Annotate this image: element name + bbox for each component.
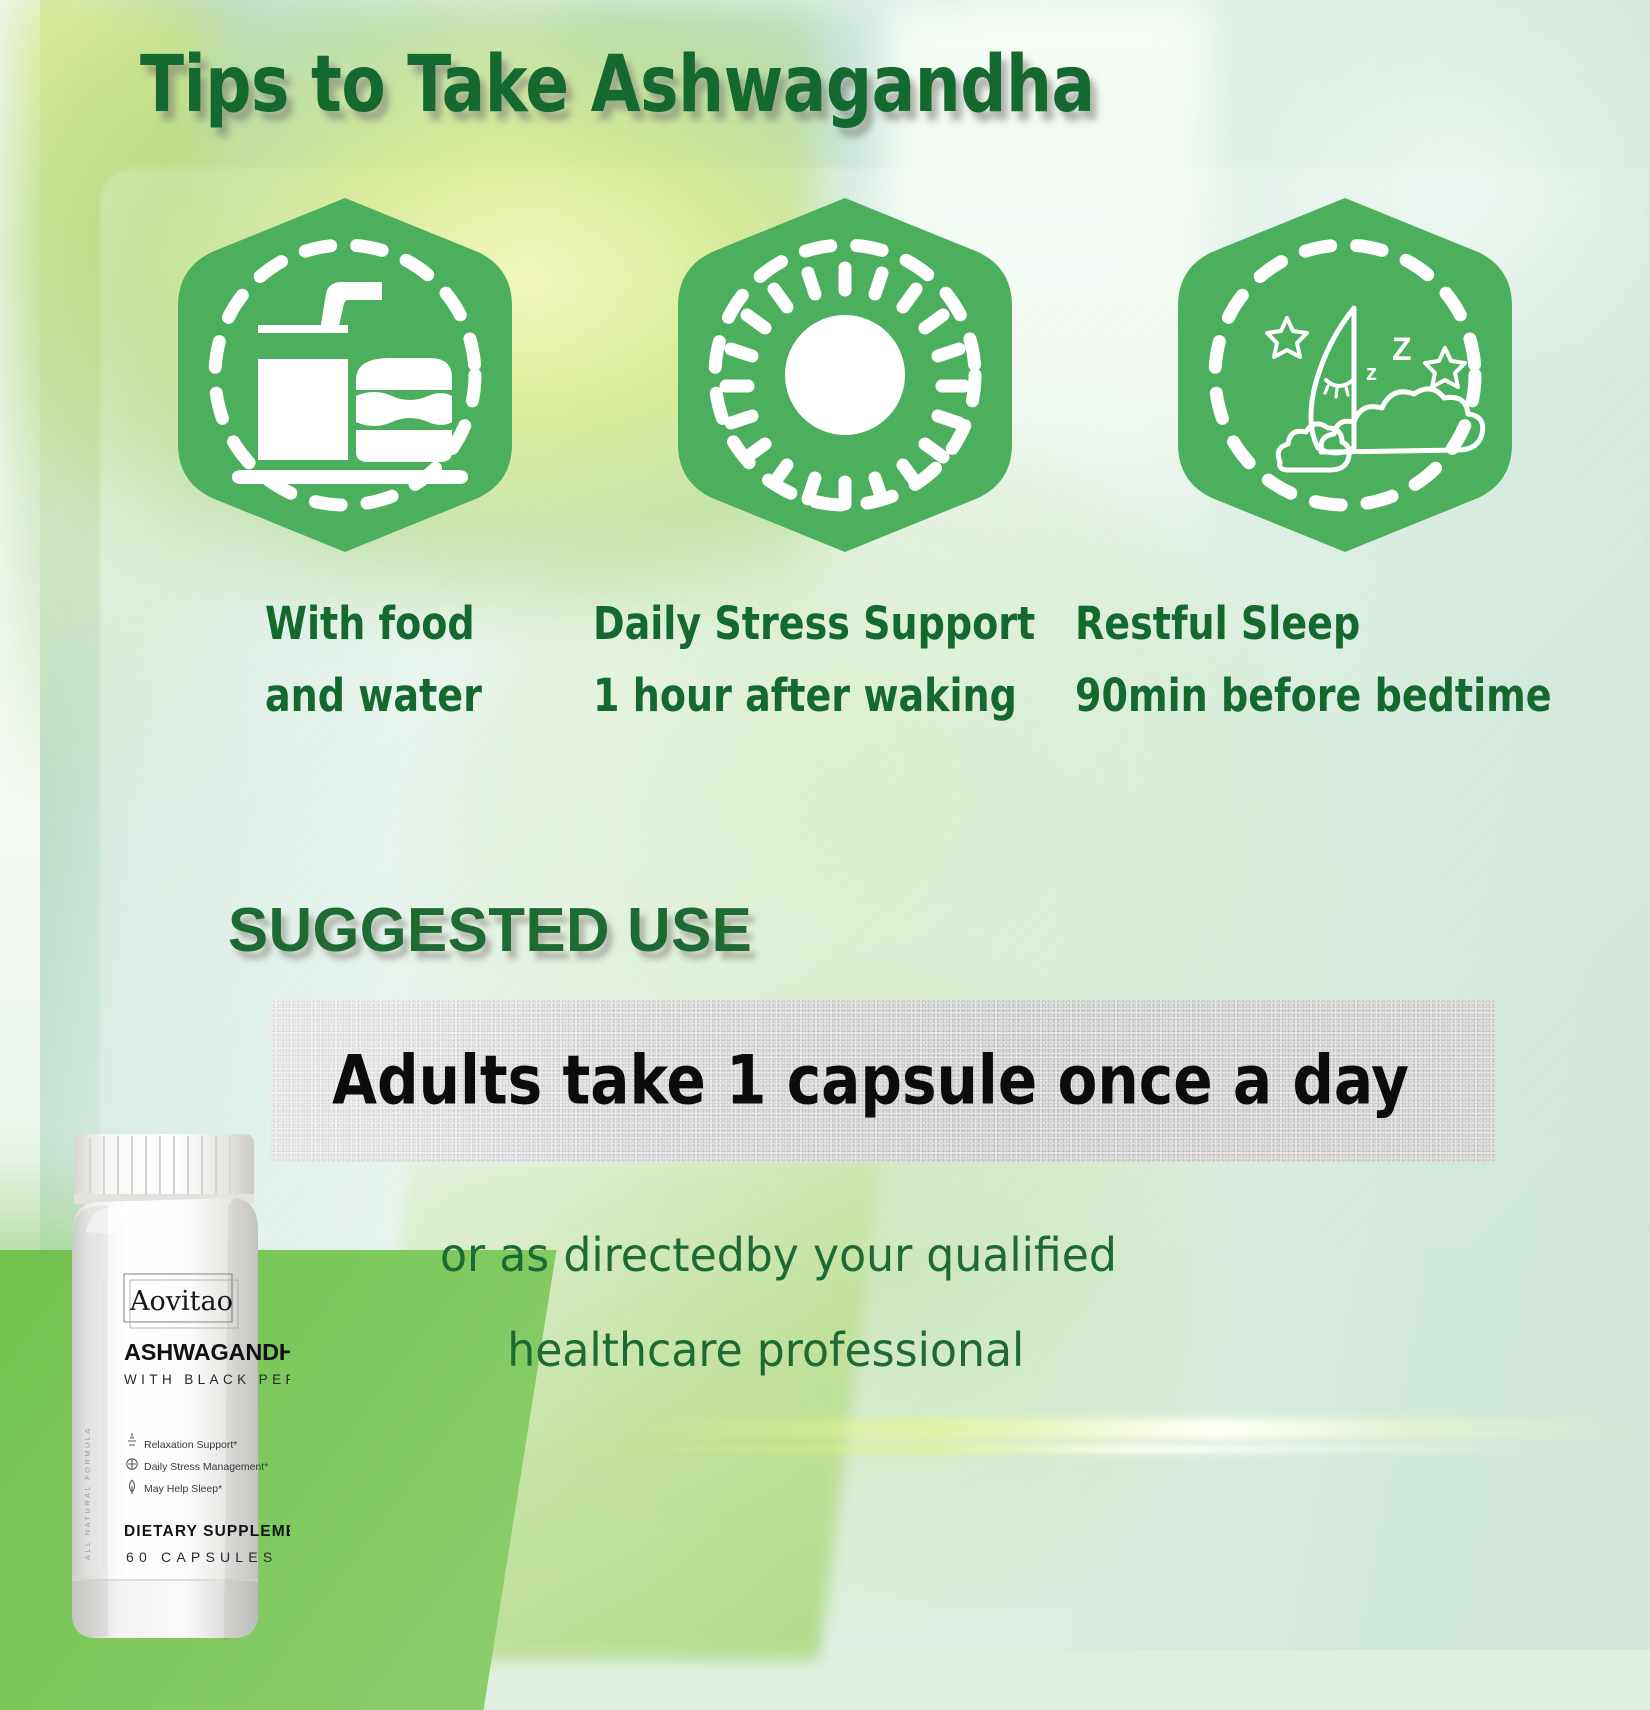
svg-text:ASHWAGANDHA: ASHWAGANDHA <box>124 1339 290 1365</box>
page-title: Tips to Take Ashwagandha <box>140 40 1095 130</box>
tip-caption-line1: With food <box>265 588 482 660</box>
tip-item-with-food <box>150 190 540 580</box>
tips-icon-row: Z z <box>150 190 1550 580</box>
svg-text:Relaxation Support*: Relaxation Support* <box>144 1439 237 1451</box>
tip-caption-line2: 1 hour after waking <box>593 660 1035 732</box>
svg-text:Aovitao: Aovitao <box>129 1286 233 1317</box>
tip-caption-line1: Restful Sleep <box>1075 588 1552 660</box>
tip-item-daily-stress-support <box>650 190 1040 580</box>
infographic-content: Tips to Take Ashwagandha <box>0 0 1650 1650</box>
dosage-note: or as directedby your qualified healthca… <box>440 1208 1496 1398</box>
tip-caption-daily-stress-support: Daily Stress Support 1 hour after waking <box>593 588 1035 732</box>
tips-captions: With food and water Daily Stress Support… <box>150 580 1650 720</box>
tip-caption-line2: 90min before bedtime <box>1075 660 1552 732</box>
svg-text:z: z <box>1366 360 1377 385</box>
sleeping-moon-icon: Z z <box>1160 190 1530 560</box>
dosage-note-line1: or as directedby your qualified <box>440 1228 1117 1282</box>
suggested-use-heading: SUGGESTED USE <box>228 895 752 966</box>
tip-item-restful-sleep: Z z <box>1150 190 1540 580</box>
dosage-banner-text: Adults take 1 capsule once a day <box>332 1042 1409 1121</box>
svg-text:WITH BLACK PEPPER: WITH BLACK PEPPER <box>124 1372 290 1387</box>
dosage-banner: Adults take 1 capsule once a day <box>270 1000 1495 1162</box>
tip-caption-restful-sleep: Restful Sleep 90min before bedtime <box>1075 588 1552 732</box>
tip-caption-line1: Daily Stress Support <box>593 588 1035 660</box>
tip-caption-line2: and water <box>265 660 482 732</box>
svg-text:May Help Sleep*: May Help Sleep* <box>144 1483 222 1495</box>
svg-text:Z: Z <box>1392 331 1412 367</box>
tip-caption-with-food: With food and water <box>265 588 482 732</box>
product-bottle: ALL NATURAL FORMULA Aovitao ASHWAGANDHA … <box>38 1128 290 1658</box>
svg-text:DIETARY SUPPLEMENT: DIETARY SUPPLEMENT <box>124 1523 290 1540</box>
dosage-note-line2: healthcare professional <box>507 1303 1496 1398</box>
svg-text:ALL NATURAL FORMULA: ALL NATURAL FORMULA <box>83 1426 92 1560</box>
sun-icon <box>660 190 1030 560</box>
food-and-drink-icon <box>160 190 530 560</box>
